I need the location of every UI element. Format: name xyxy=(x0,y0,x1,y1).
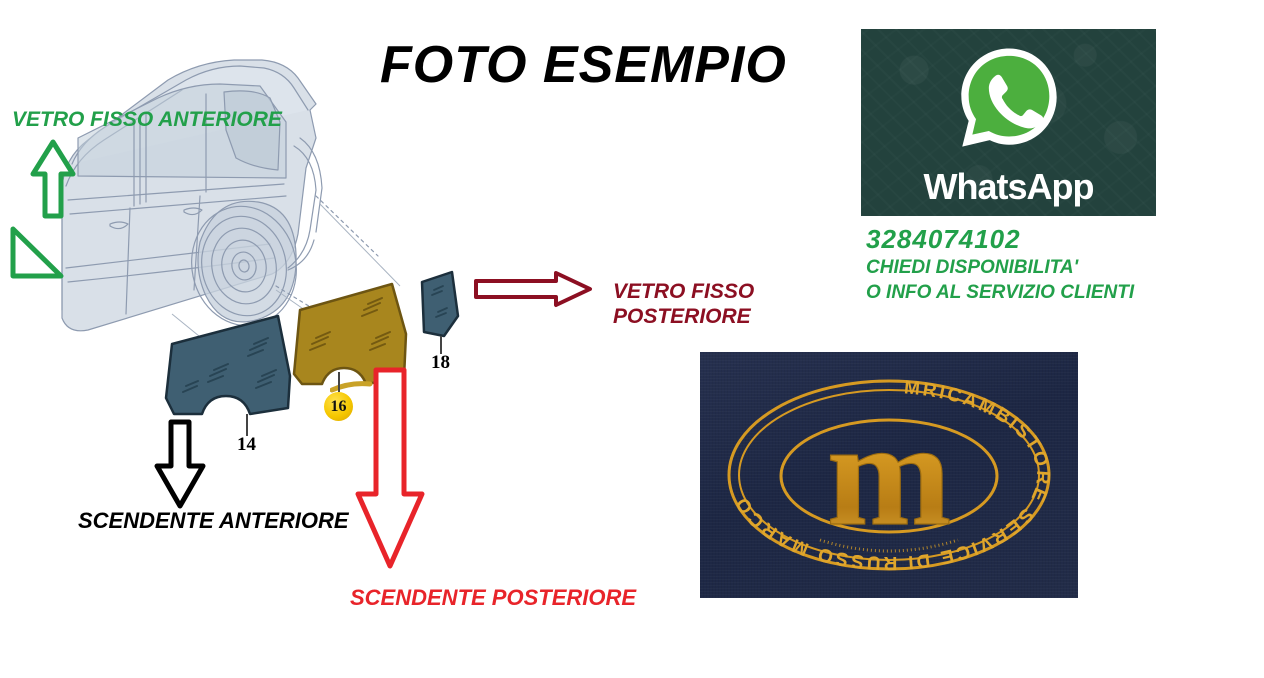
green-up-arrow-icon xyxy=(30,138,76,220)
shop-logo: MRICAMBISTORE SERVICE DI RUSSO MARCO m xyxy=(700,352,1078,598)
red-down-arrow-icon xyxy=(352,366,428,572)
dark-red-right-arrow-icon xyxy=(472,268,594,310)
part-14-leader-line xyxy=(246,414,248,436)
part-number-16: 16 xyxy=(324,392,353,421)
contact-block: 3284074102 CHIEDI DISPONIBILITA' O INFO … xyxy=(866,224,1134,305)
part-18-quarter-glass xyxy=(412,268,464,354)
whatsapp-wordmark: WhatsApp xyxy=(861,166,1156,208)
label-scendente-posteriore: SCENDENTE POSTERIORE xyxy=(350,585,636,611)
whatsapp-icon xyxy=(954,43,1064,153)
shop-logo-monogram: m xyxy=(827,391,952,557)
label-vetro-fisso-anteriore: VETRO FISSO ANTERIORE xyxy=(12,108,282,133)
label-scendente-anteriore: SCENDENTE ANTERIORE xyxy=(78,508,349,534)
green-triangle-icon xyxy=(8,224,66,282)
part-number-18: 18 xyxy=(431,352,450,374)
black-down-arrow-icon xyxy=(152,418,208,510)
part-14-front-drop-glass xyxy=(158,310,298,422)
part-16-leader-line xyxy=(338,372,340,392)
whatsapp-banner: WhatsApp xyxy=(861,29,1156,216)
page-title: FOTO ESEMPIO xyxy=(380,35,787,95)
poster-canvas: 14 16 17 18 xyxy=(0,0,1264,678)
label-vetro-fisso-posteriore: VETRO FISSO POSTERIORE xyxy=(613,280,754,330)
phone-number: 3284074102 xyxy=(866,224,1134,255)
contact-line-2: O INFO AL SERVIZIO CLIENTI xyxy=(866,280,1134,305)
shop-logo-graphic: MRICAMBISTORE SERVICE DI RUSSO MARCO m xyxy=(700,352,1078,598)
contact-line-1: CHIEDI DISPONIBILITA' xyxy=(866,255,1134,280)
part-number-14: 14 xyxy=(237,434,256,456)
